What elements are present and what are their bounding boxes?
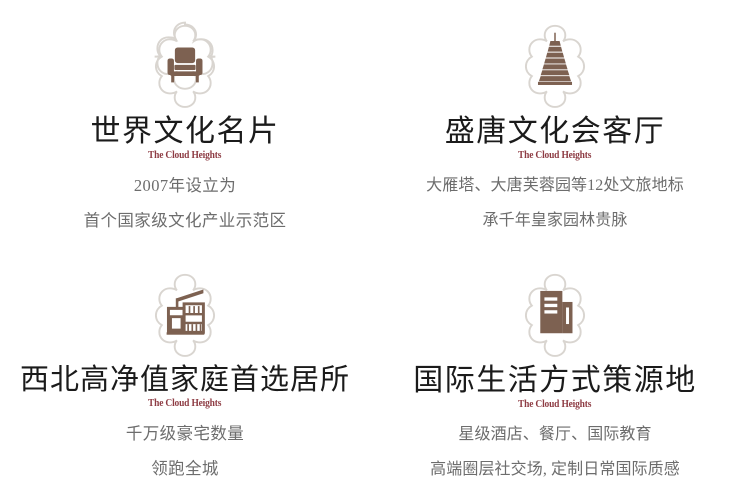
card-brand-subtitle: The Cloud Heights [518,150,591,161]
card-body: 大雁塔、大唐芙蓉园等12处文旅地标 承千年皇家园林贵脉 [426,178,684,229]
card-body-line: 承千年皇家园林贵脉 [426,213,684,229]
card-body-line: 星级酒店、餐厅、国际教育 [430,427,680,443]
card-body-line: 高端圈层社交场, 定制日常国际质感 [430,462,680,478]
feature-card-tang-culture[interactable]: 盛唐文化会客厅 The Cloud Heights 大雁塔、大唐芙蓉园等12处文… [370,0,740,247]
card-body-line: 领跑全城 [126,461,244,478]
card-body-line: 2007年设立为 [84,178,287,195]
feature-grid: 世界文化名片 The Cloud Heights 2007年设立为 首个国家级文… [0,0,740,494]
card-title: 国际生活方式策源地 [413,365,697,397]
feature-card-international-lifestyle[interactable]: 国际生活方式策源地 The Cloud Heights 星级酒店、餐厅、国际教育… [370,247,740,494]
card-body: 星级酒店、餐厅、国际教育 高端圈层社交场, 定制日常国际质感 [430,427,680,478]
card-brand-subtitle: The Cloud Heights [148,150,221,161]
feature-card-northwest-residence[interactable]: 西北高净值家庭首选居所 The Cloud Heights 千万级豪宅数量 领跑… [0,247,370,494]
pagoda-icon [507,18,603,110]
card-body: 千万级豪宅数量 领跑全城 [126,426,244,478]
card-brand-subtitle: The Cloud Heights [148,398,221,409]
card-brand-subtitle: The Cloud Heights [518,399,591,410]
card-title: 世界文化名片 [91,116,280,148]
card-title: 盛唐文化会客厅 [445,116,666,148]
card-body: 2007年设立为 首个国家级文化产业示范区 [84,178,287,230]
armchair-icon [137,18,233,110]
card-body-line: 千万级豪宅数量 [126,426,244,443]
villa-icon [137,267,233,359]
card-title: 西北高净值家庭首选居所 [20,365,350,396]
card-body-line: 首个国家级文化产业示范区 [84,213,287,230]
card-body-line: 大雁塔、大唐芙蓉园等12处文旅地标 [426,178,684,194]
office-building-icon [507,267,603,359]
feature-card-world-culture[interactable]: 世界文化名片 The Cloud Heights 2007年设立为 首个国家级文… [0,0,370,247]
